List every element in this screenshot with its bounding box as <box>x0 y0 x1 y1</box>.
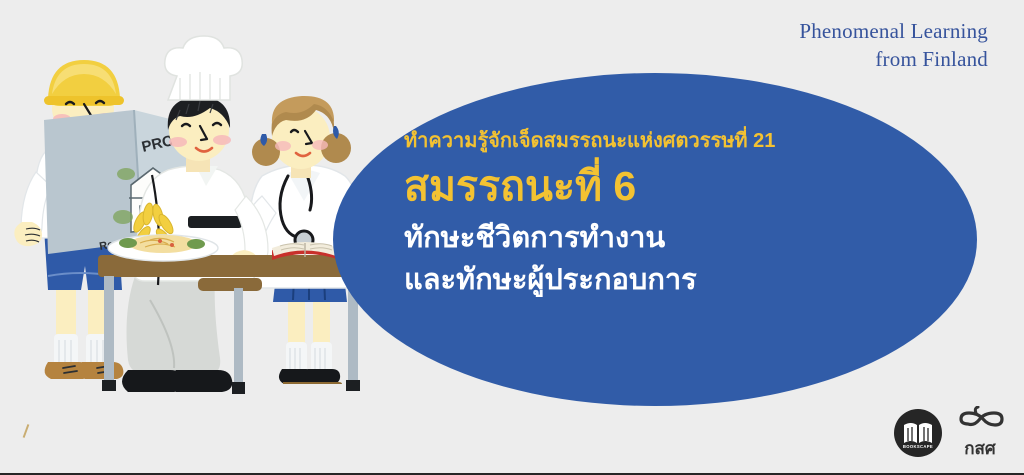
logo-row: BOOKSCAPE กสศ <box>894 406 1006 457</box>
brand-tagline: Phenomenal Learning from Finland <box>799 18 988 73</box>
banner-headline: สมรรถนะที่ 6 <box>404 160 944 212</box>
poster-canvas: PROJECT Restaurant <box>0 0 1024 475</box>
bookscape-logo[interactable]: BOOKSCAPE <box>894 409 942 457</box>
bookscape-wordmark: BOOKSCAPE <box>894 444 942 449</box>
kosoms-logo[interactable]: กสศ <box>954 406 1006 457</box>
infinity-swirl-icon <box>954 406 1006 434</box>
plate-of-food <box>108 235 218 261</box>
open-book-icon <box>894 409 942 457</box>
kosoms-wordmark: กสศ <box>954 440 1006 457</box>
banner-text-block: ทำความรู้จักเจ็ดสมรรถนะแห่งศตวรรษที่ 21 … <box>404 126 944 301</box>
banner-subline: ทักษะชีวิตการทำงาน และทักษะผู้ประกอบการ <box>404 218 944 300</box>
banner-kicker: ทำความรู้จักเจ็ดสมรรถนะแห่งศตวรรษที่ 21 <box>404 126 944 156</box>
